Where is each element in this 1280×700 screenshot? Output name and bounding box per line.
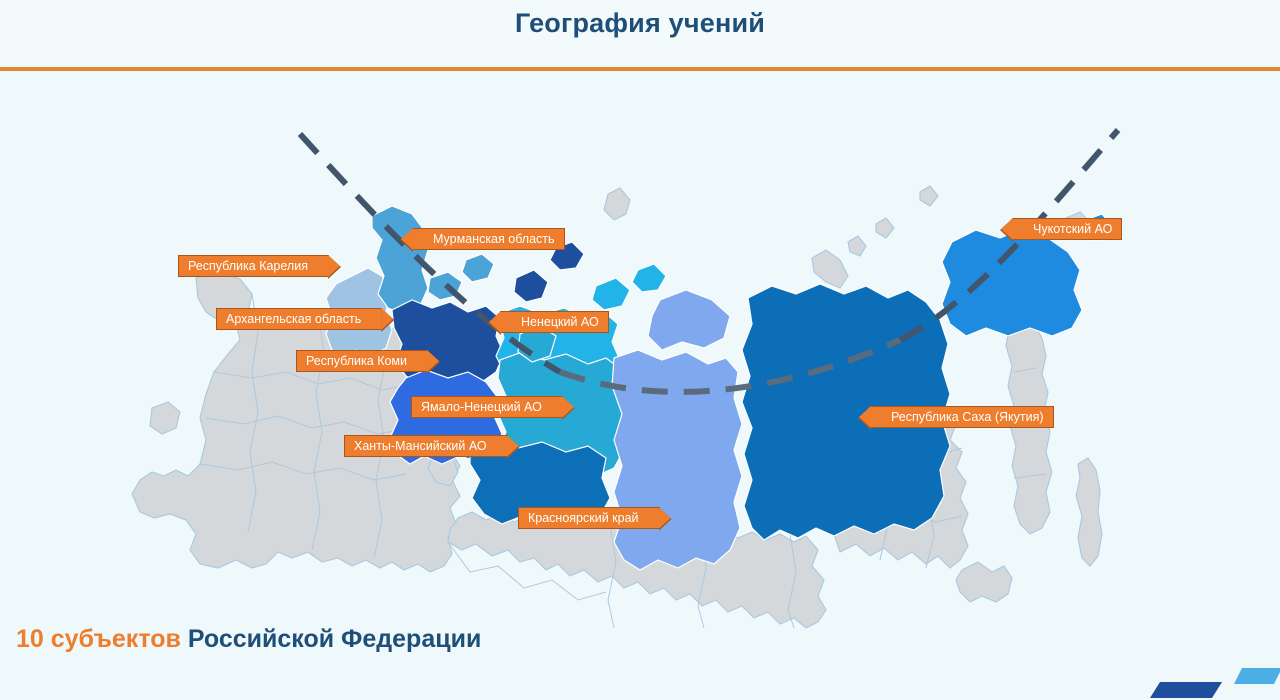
footer-subject-label: Российской Федерации bbox=[181, 625, 481, 653]
callout-label-text: Ханты-Мансийский АО bbox=[345, 440, 496, 453]
callout-karelia[interactable]: Республика Карелия bbox=[178, 255, 329, 277]
region-primorye-gray bbox=[956, 562, 1012, 602]
callout-chukotka[interactable]: Чукотский АО bbox=[1012, 218, 1122, 240]
callout-label-text: Мурманская область bbox=[424, 233, 564, 246]
region-murmansk-coastal-islands bbox=[428, 254, 494, 300]
region-west-gray-islands bbox=[150, 402, 180, 434]
callout-khanty[interactable]: Ханты-Мансийский АО bbox=[344, 435, 508, 457]
region-novaya-zemlya-gray bbox=[604, 188, 630, 220]
region-arctic-islands-gray bbox=[812, 250, 848, 288]
region-chukotka[interactable] bbox=[942, 228, 1082, 336]
callout-label-text: Республика Саха (Якутия) bbox=[882, 411, 1053, 424]
callout-label-text: Ямало-Ненецкий АО bbox=[412, 401, 551, 414]
region-arctic-islets-gray bbox=[848, 186, 938, 256]
title-divider-rule bbox=[0, 67, 1280, 71]
region-krasnoyarsk-taymyr bbox=[648, 290, 730, 350]
callout-krasnoyarsk[interactable]: Красноярский край bbox=[518, 507, 660, 529]
callout-label-text: Архангельская область bbox=[217, 313, 370, 326]
corner-mark-light-parallelogram bbox=[1234, 668, 1280, 684]
region-nenets-islands bbox=[592, 264, 666, 310]
callout-arkhangelsk[interactable]: Архангельская область bbox=[216, 308, 382, 330]
callout-komi[interactable]: Республика Коми bbox=[296, 350, 428, 372]
footer-summary: 10 субъектов Российской Федерации bbox=[16, 625, 481, 654]
region-arkhangelsk-nz-islands bbox=[514, 242, 584, 302]
region-krasnoyarsk[interactable] bbox=[612, 350, 742, 570]
callout-label-text: Ненецкий АО bbox=[512, 316, 608, 329]
callout-label-text: Чукотский АО bbox=[1024, 223, 1121, 236]
corner-logo-mark bbox=[1150, 654, 1280, 700]
footer-subject-count: 10 субъектов bbox=[16, 625, 181, 653]
callout-murmansk[interactable]: Мурманская область bbox=[412, 228, 565, 250]
callout-nenets[interactable]: Ненецкий АО bbox=[500, 311, 609, 333]
region-sakhalin-gray bbox=[1076, 458, 1102, 566]
callout-label-text: Республика Коми bbox=[297, 355, 416, 368]
callout-label-text: Красноярский край bbox=[519, 512, 648, 525]
callout-yamal[interactable]: Ямало-Ненецкий АО bbox=[411, 396, 563, 418]
callout-label-text: Республика Карелия bbox=[179, 260, 317, 273]
slide-root: География учений bbox=[0, 0, 1280, 700]
page-title: География учений bbox=[0, 8, 1280, 39]
russia-map-svg bbox=[0, 72, 1280, 632]
callout-yakutia[interactable]: Республика Саха (Якутия) bbox=[870, 406, 1054, 428]
corner-mark-dark-parallelogram bbox=[1150, 682, 1222, 698]
map-canvas bbox=[0, 72, 1280, 632]
